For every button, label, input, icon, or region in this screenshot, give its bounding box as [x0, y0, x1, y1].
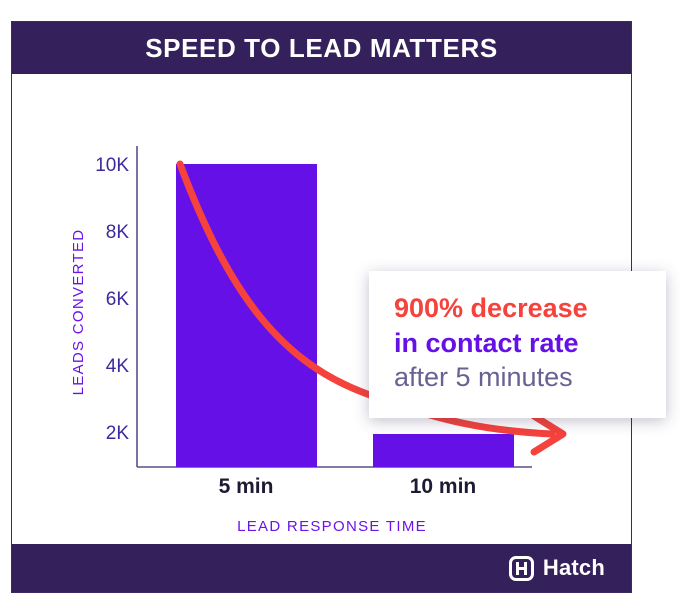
y-axis-title: LEADS CONVERTED	[70, 229, 87, 396]
logo-crossbar	[516, 567, 527, 570]
page-title: SPEED TO LEAD MATTERS	[145, 33, 498, 64]
callout-line-metric: in contact rate	[394, 326, 666, 361]
callout-line-timeframe: after 5 minutes	[394, 360, 666, 395]
header-banner: SPEED TO LEAD MATTERS	[12, 22, 631, 74]
y-tick-label-8k: 8K	[106, 222, 130, 243]
y-tick-label-2k: 2K	[106, 423, 130, 444]
brand-name: Hatch	[543, 555, 605, 581]
infographic-card: SPEED TO LEAD MATTERS 10K 8K 6K 4K 2K LE…	[11, 21, 632, 593]
callout-box: 900% decrease in contact rate after 5 mi…	[369, 271, 666, 418]
chart-area: 10K 8K 6K 4K 2K LEADS CONVERTED 5 min 10…	[12, 74, 631, 544]
bar-10-min[interactable]	[373, 434, 514, 467]
y-tick-label-6k: 6K	[106, 289, 130, 310]
y-tick-label-4k: 4K	[106, 356, 130, 377]
hatch-h-logo-icon	[509, 556, 534, 581]
x-tick-label-5-min: 5 min	[219, 475, 274, 498]
x-axis-title: LEAD RESPONSE TIME	[237, 518, 427, 535]
brand-logo: Hatch	[509, 555, 605, 581]
footer-banner: Hatch	[12, 544, 631, 592]
callout-line-percentage: 900% decrease	[394, 291, 666, 326]
x-tick-label-10-min: 10 min	[410, 475, 477, 498]
y-tick-label-10k: 10K	[95, 155, 129, 176]
